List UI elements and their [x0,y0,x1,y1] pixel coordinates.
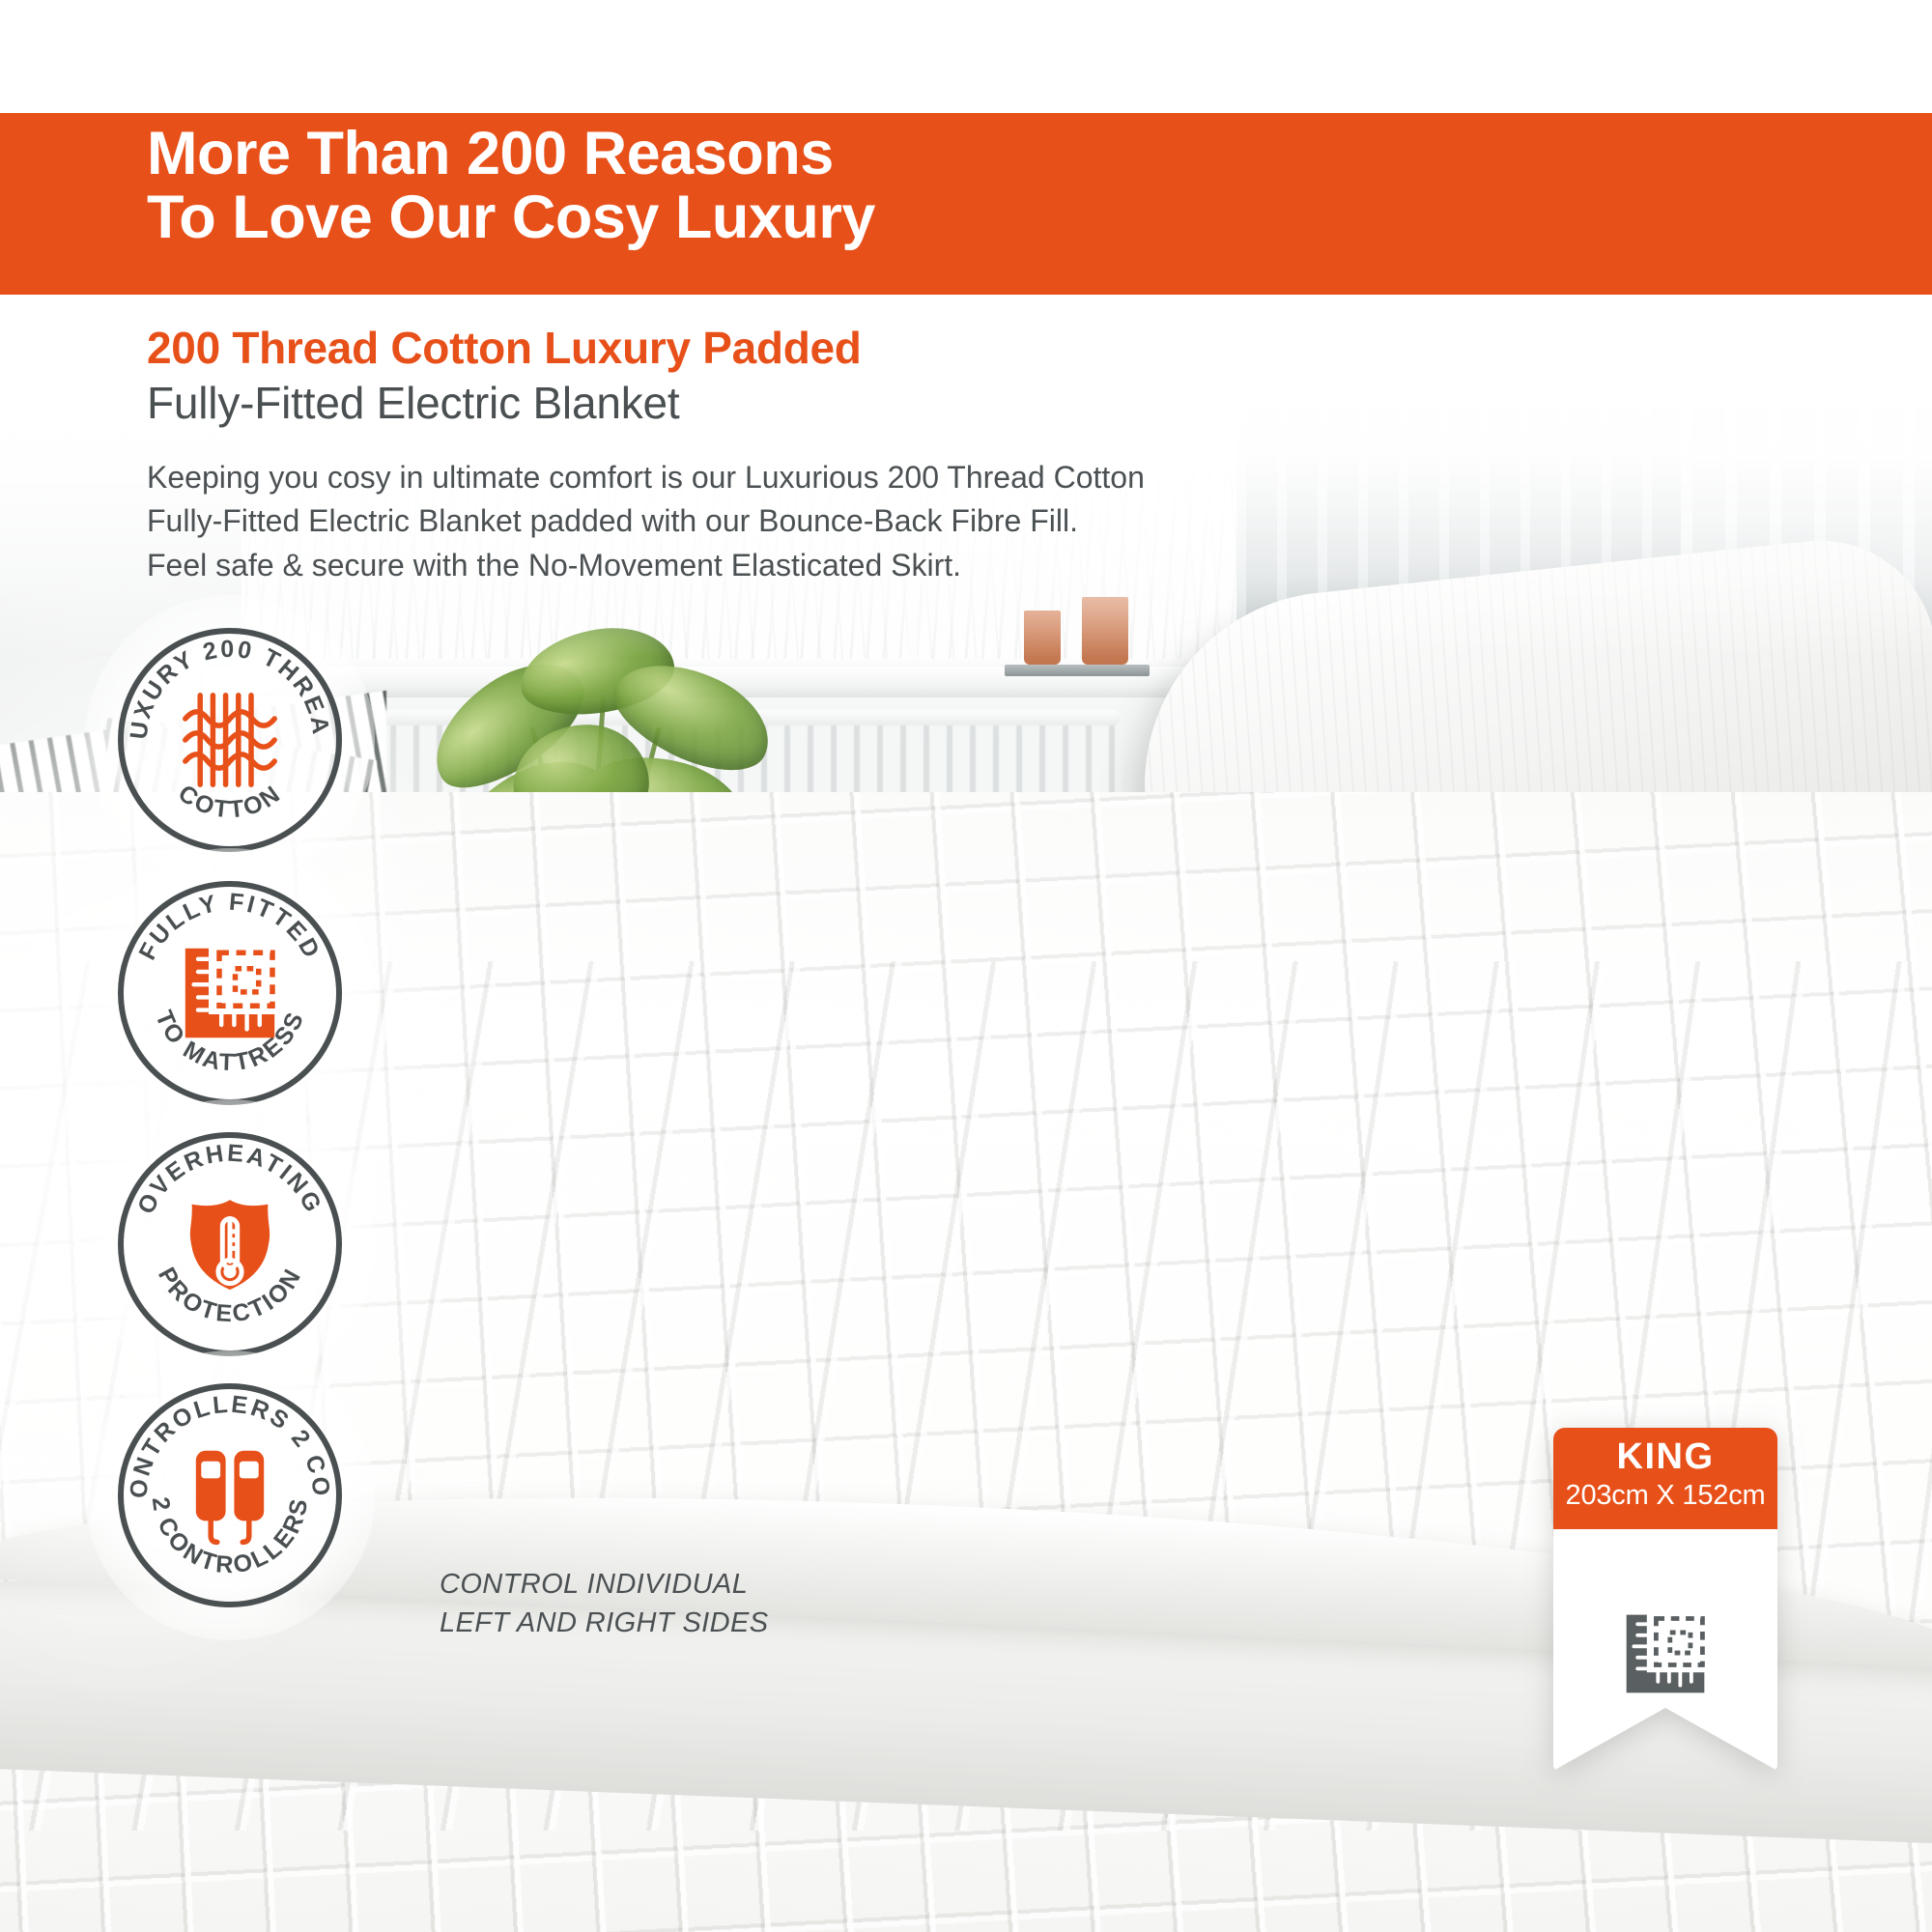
header-banner: More Than 200 Reasons To Love Our Cosy L… [0,113,1932,295]
badge-two-controllers: CONTROLLERS 2 CON 2 CONTROLLERS [118,1383,342,1607]
badge-luxury-200-thread-cotton: LUXURY 200 THREAD COTTON [118,628,342,852]
product-subheadline: Fully-Fitted Electric Blanket [147,377,679,429]
product-infographic: More Than 200 Reasons To Love Our Cosy L… [0,0,1932,1932]
ruler-measure-icon [177,940,283,1046]
product-headline: 200 Thread Cotton Luxury Padded [147,322,862,374]
size-tag-dimensions: 203cm X 152cm [1553,1478,1777,1512]
banner-title: More Than 200 Reasons To Love Our Cosy L… [147,123,875,249]
size-tag: KING 203cm X 152cm [1553,1428,1777,1814]
shield-thermometer-icon [177,1191,283,1297]
dual-controller-icon [177,1442,283,1548]
size-tag-size-label: KING [1553,1428,1777,1478]
controller-caption: CONTROL INDIVIDUAL LEFT AND RIGHT SIDES [440,1565,768,1642]
size-tag-header: KING 203cm X 152cm [1553,1428,1777,1529]
woven-thread-icon [177,687,283,793]
ruler-measure-icon [1619,1607,1712,1700]
badge-fully-fitted-to-mattress: FULLY FITTED TO MATTRESS [118,881,342,1105]
badge-overheating-protection: OVERHEATING PROTECTION [118,1132,342,1356]
product-description: Keeping you cosy in ultimate comfort is … [147,456,1145,587]
plant-shelf [1005,665,1150,676]
